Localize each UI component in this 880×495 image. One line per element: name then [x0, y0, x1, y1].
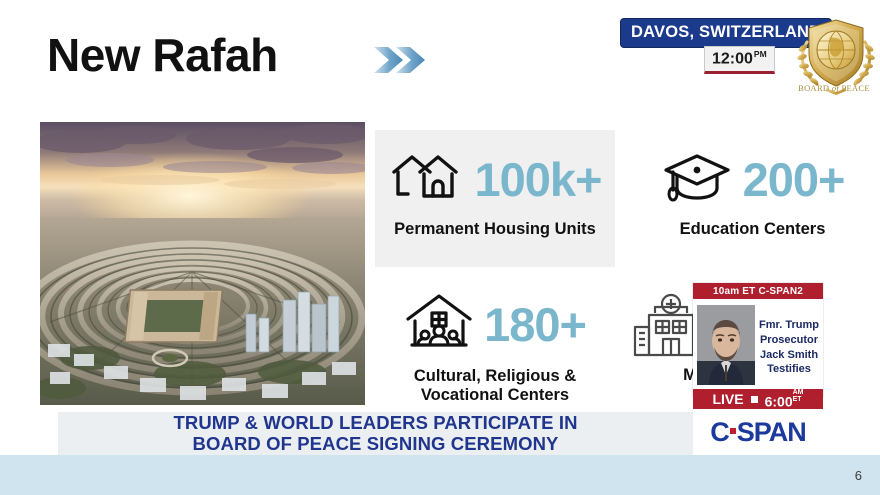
stat-label-housing: Permanent Housing Units: [375, 220, 615, 239]
promo-line-3: Jack Smith: [760, 348, 818, 363]
live-time-meridiem: AMET: [793, 389, 804, 403]
emblem-caption-of: of: [832, 83, 839, 93]
stat-panel-education: 200+ Education Centers: [630, 130, 875, 267]
stat-panel-housing: 100k+ Permanent Housing Units: [375, 130, 615, 267]
local-time-value: 12:00: [712, 50, 753, 67]
stat-value-housing: 100k+: [474, 156, 601, 203]
promo-line-2: Prosecutor: [760, 333, 818, 348]
live-time-value: 6:00: [765, 393, 793, 409]
location-badge: DAVOS, SWITZERLAND 12:00PM: [620, 10, 820, 70]
slide-stage: New Rafah DAVOS, SWITZERLAND 12:00PM: [0, 0, 880, 495]
stat-value-education: 200+: [743, 156, 845, 203]
lower-third-line-1: TRUMP & WORLD LEADERS PARTICIPATE IN: [173, 413, 577, 434]
stat-label-housing-line1: Permanent Housing Units: [394, 220, 596, 238]
graduation-cap-icon: [661, 148, 733, 211]
aerial-city-photo: [40, 122, 365, 405]
stat-label-education: Education Centers: [630, 220, 875, 239]
cspan-logo-box: C SPAN: [693, 409, 823, 457]
house-with-people-icon: [404, 291, 474, 358]
stat-label-cultural-line2: Vocational Centers: [375, 386, 615, 405]
live-time: 6:00AMET: [765, 389, 804, 410]
live-square-icon: [751, 396, 758, 403]
promo-line-1: Fmr. Trump: [759, 318, 819, 333]
broadcast-floor: [0, 455, 880, 495]
stat-label-cultural-line1: Cultural, Religious &: [414, 367, 576, 385]
promo-line-4: Testifies: [767, 362, 811, 377]
promo-card-text: Fmr. Trump Prosecutor Jack Smith Testifi…: [757, 299, 823, 396]
lower-third-line-2: BOARD OF PEACE SIGNING CEREMONY: [193, 434, 559, 455]
stat-label-cultural: Cultural, Religious & Vocational Centers: [375, 367, 615, 406]
local-time: 12:00PM: [704, 46, 775, 74]
cspan-logo: C SPAN: [710, 417, 806, 448]
stat-panel-cultural: 180+ Cultural, Religious & Vocational Ce…: [375, 283, 615, 418]
lower-third-banner: TRUMP & WORLD LEADERS PARTICIPATE IN BOA…: [58, 412, 693, 457]
live-meridiem-et: ET: [793, 396, 802, 403]
live-label: LIVE: [712, 391, 743, 407]
live-status-bar: LIVE 6:00AMET: [693, 389, 823, 409]
cspan-logo-dot-icon: [730, 428, 736, 434]
promo-headshot: [697, 305, 755, 385]
double-chevron-right-icon: [372, 41, 428, 79]
emblem-caption: BOARD of PEACE: [788, 83, 880, 93]
stat-value-cultural: 180+: [484, 301, 586, 348]
promo-card: 10am ET C-SPAN2: [693, 283, 823, 396]
cspan-logo-span: SPAN: [737, 417, 806, 448]
live-meridiem-am: AM: [793, 389, 804, 396]
page-title: New Rafah: [47, 28, 278, 82]
emblem-caption-board: BOARD: [798, 83, 829, 93]
two-houses-icon: [388, 148, 464, 211]
promo-card-header: 10am ET C-SPAN2: [693, 283, 823, 299]
local-time-meridiem: PM: [754, 49, 767, 59]
emblem-caption-peace: PEACE: [841, 83, 869, 93]
stat-label-education-line1: Education Centers: [680, 220, 826, 238]
slide-page-number: 6: [855, 468, 862, 483]
cspan-logo-c: C: [710, 417, 729, 448]
